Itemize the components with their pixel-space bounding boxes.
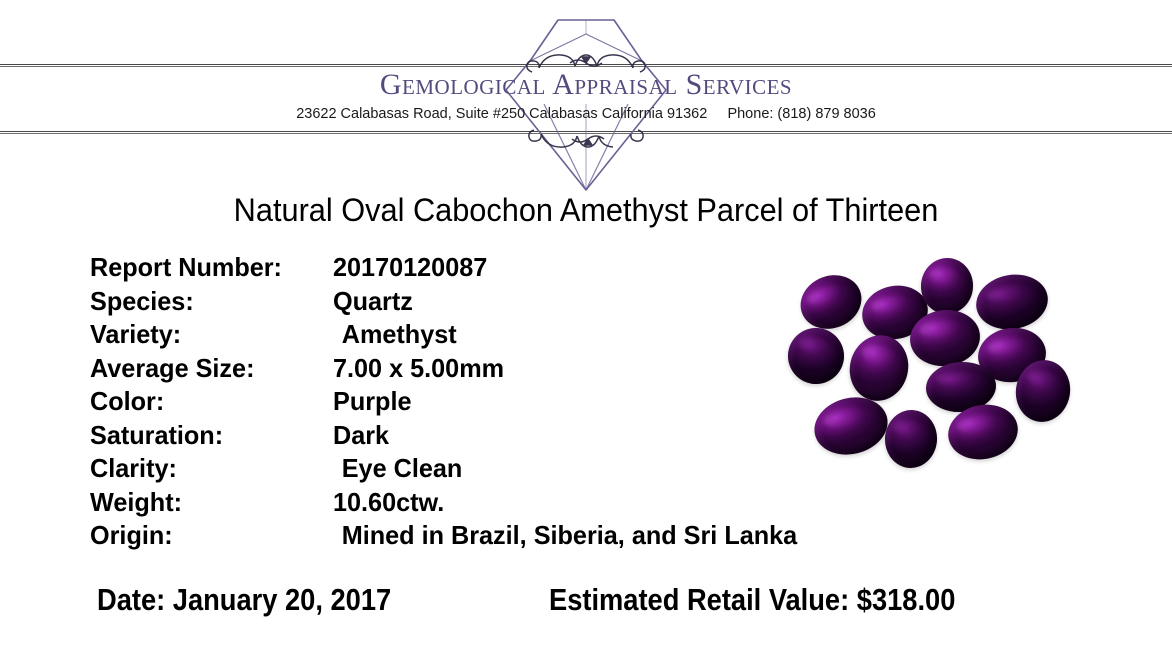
detail-row: Weight:10.60ctw. xyxy=(90,487,790,521)
detail-value: Mined in Brazil, Siberia, and Sri Lanka xyxy=(333,520,797,551)
report-date: Date: January 20, 2017 xyxy=(97,582,391,618)
gemstone-cabochon xyxy=(972,269,1052,335)
detail-value: Eye Clean xyxy=(333,453,462,484)
company-address: 23622 Calabasas Road, Suite #250 Calabas… xyxy=(0,107,1172,122)
detail-label: Average Size: xyxy=(90,353,326,384)
detail-label: Saturation: xyxy=(90,420,326,451)
amethyst-cabochon-parcel-photo xyxy=(782,250,1068,472)
detail-label: Color: xyxy=(90,386,326,417)
detail-value: Amethyst xyxy=(333,319,457,350)
detail-label: Origin: xyxy=(90,520,326,551)
document-footer: Date: January 20, 2017 Estimated Retail … xyxy=(0,582,1172,624)
detail-value: Dark xyxy=(333,420,389,451)
estimated-retail-value: Estimated Retail Value: $318.00 xyxy=(549,582,955,618)
detail-value: Purple xyxy=(333,386,411,417)
detail-row: Saturation:Dark xyxy=(90,420,790,454)
detail-value: 10.60ctw. xyxy=(333,487,444,518)
detail-row: Average Size:7.00 x 5.00mm xyxy=(90,353,790,387)
detail-row: Species:Quartz xyxy=(90,286,790,320)
detail-label: Report Number: xyxy=(90,252,326,283)
detail-label: Clarity: xyxy=(90,453,326,484)
detail-label: Species: xyxy=(90,286,326,317)
detail-label: Weight: xyxy=(90,487,326,518)
detail-row: Origin:Mined in Brazil, Siberia, and Sri… xyxy=(90,520,790,554)
detail-value: 20170120087 xyxy=(333,252,487,283)
gemstone-cabochon xyxy=(843,329,915,407)
detail-row: Variety:Amethyst xyxy=(90,319,790,353)
gemstone-cabochon xyxy=(793,266,870,337)
company-name: Gemological Appraisal Services xyxy=(0,70,1172,100)
detail-label: Variety: xyxy=(90,319,326,350)
report-details-table: Report Number:20170120087Species:QuartzV… xyxy=(90,252,790,554)
detail-value: Quartz xyxy=(333,286,413,317)
document-header: Gemological Appraisal Services 23622 Cal… xyxy=(0,0,1172,192)
detail-value: 7.00 x 5.00mm xyxy=(333,353,504,384)
page-title: Natural Oval Cabochon Amethyst Parcel of… xyxy=(23,192,1148,229)
detail-row: Clarity:Eye Clean xyxy=(90,453,790,487)
detail-row: Report Number:20170120087 xyxy=(90,252,790,286)
detail-row: Color:Purple xyxy=(90,386,790,420)
gemstone-cabochon xyxy=(784,324,849,389)
gemstone-cabochon xyxy=(883,408,939,469)
